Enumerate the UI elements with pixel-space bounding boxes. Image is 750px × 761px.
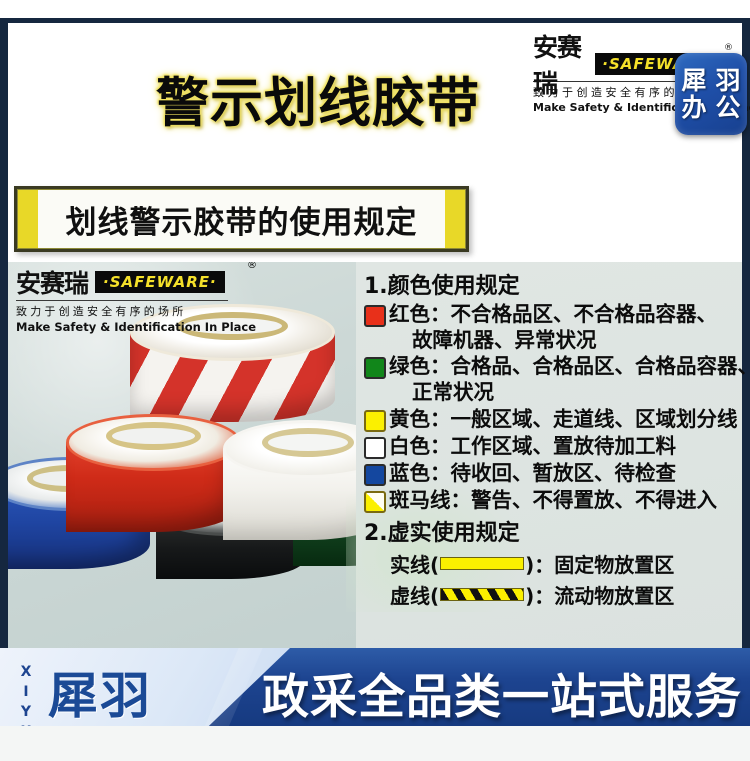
brand-tagline-en: Make Safety & Identification In Place	[16, 320, 246, 334]
color-rule-label: 红色：不合格品区、不合格品容器、	[389, 302, 717, 328]
watermark-badge: 犀 羽 办 公	[675, 53, 747, 135]
color-rule-row: 绿色：合格品、合格品区、合格品容器、	[364, 354, 736, 380]
roll-face	[66, 414, 241, 471]
section1-heading: 1.颜色使用规定	[364, 274, 736, 301]
brand-name-cn: 安赛瑞	[533, 28, 588, 100]
color-rule-continuation: 故障机器、异常状况	[412, 328, 736, 354]
line-rule-row-dashed: 虚线( )： 流动物放置区	[390, 580, 736, 609]
line-rule-prefix: 实线(	[390, 549, 439, 578]
solid-line-sample-icon	[440, 557, 524, 570]
color-rule-row: 红色：不合格品区、不合格品容器、	[364, 302, 736, 328]
line-rule-suffix: )：	[525, 580, 554, 609]
registered-mark-icon: ®	[247, 262, 257, 271]
line-rule-prefix: 虚线(	[390, 580, 439, 609]
rules-panel: 1.颜色使用规定 红色：不合格品区、不合格品容器、 故障机器、异常状况 绿色：合…	[356, 262, 742, 648]
line-rule-row-solid: 实线( )： 固定物放置区	[390, 549, 736, 578]
roll-core	[106, 422, 201, 450]
color-rule-row: 白色：工作区域、置放待加工料	[364, 434, 736, 460]
registered-mark-icon: ®	[724, 43, 733, 53]
content-area: 安赛瑞 ® ·SAFEWARE· 致力于创造安全有序的场所 Make Safet…	[8, 262, 742, 648]
product-photo: 安赛瑞 ® ·SAFEWARE· 致力于创造安全有序的场所 Make Safet…	[8, 262, 356, 648]
badge-char-4: 公	[711, 94, 745, 121]
color-rule-label: 斑马线：警告、不得置放、不得进入	[389, 488, 717, 514]
color-rule-row: 斑马线：警告、不得置放、不得进入	[364, 488, 736, 514]
dashed-line-sample-icon	[440, 588, 524, 601]
poster-canvas: 警示划线胶带 安赛瑞 ® ·SAFEWARE· 致力于创造安全有序的场所 Mak…	[0, 0, 750, 761]
header-band: 警示划线胶带 安赛瑞 ® ·SAFEWARE· 致力于创造安全有序的场所 Mak…	[8, 23, 742, 178]
red-tape-roll	[66, 414, 241, 532]
brand-name-en: ·SAFEWARE·	[95, 271, 225, 293]
section2-heading: 2.虚实使用规定	[364, 515, 736, 547]
headline-box: 划线警示胶带的使用规定	[14, 186, 469, 252]
color-swatch-red	[364, 305, 386, 327]
color-swatch-green	[364, 357, 386, 379]
brand-logo-row: 安赛瑞 ® ·SAFEWARE·	[16, 267, 246, 297]
color-swatch-yellow	[364, 410, 386, 432]
badge-char-2: 羽	[711, 67, 745, 94]
roll-core	[262, 428, 354, 457]
color-rule-row: 黄色：一般区域、走道线、区域划分线	[364, 407, 736, 433]
bottom-banner: XIYU 犀羽 政采全品类一站式服务	[0, 648, 750, 726]
frame-left-border	[0, 18, 8, 648]
color-swatch-white	[364, 437, 386, 459]
line-rule-value: 流动物放置区	[554, 580, 674, 609]
white-tape-roll	[223, 420, 356, 540]
headline-box-inner: 划线警示胶带的使用规定	[17, 189, 466, 249]
badge-char-1: 犀	[677, 67, 711, 94]
line-rule-suffix: )：	[525, 549, 554, 578]
brand-tagline-cn: 致力于创造安全有序的场所	[16, 303, 246, 319]
color-rule-row: 蓝色：待收回、暂放区、待检查	[364, 461, 736, 487]
brand-name-cn: 安赛瑞	[16, 264, 88, 300]
color-swatch-zebra	[364, 491, 386, 513]
color-rule-label: 黄色：一般区域、走道线、区域划分线	[389, 407, 738, 433]
banner-slogan: 政采全品类一站式服务	[262, 658, 742, 726]
brand-pinyin-vertical: XIYU	[18, 664, 34, 712]
color-rule-label: 蓝色：待收回、暂放区、待检查	[389, 461, 676, 487]
brand-logo-watermark: 安赛瑞 ® ·SAFEWARE· 致力于创造安全有序的场所 Make Safet…	[16, 267, 246, 334]
badge-char-3: 办	[677, 94, 711, 121]
color-rule-label: 白色：工作区域、置放待加工料	[389, 434, 676, 460]
color-rule-label: 绿色：合格品、合格品区、合格品容器、	[389, 354, 750, 380]
line-rule-value: 固定物放置区	[554, 549, 674, 578]
brand-name-banner: 犀羽	[48, 656, 152, 726]
headline-text: 划线警示胶带的使用规定	[66, 197, 418, 242]
footer-whitespace	[0, 726, 750, 761]
brand-divider	[16, 300, 228, 301]
color-swatch-blue	[364, 464, 386, 486]
color-rule-continuation: 正常状况	[412, 380, 736, 406]
